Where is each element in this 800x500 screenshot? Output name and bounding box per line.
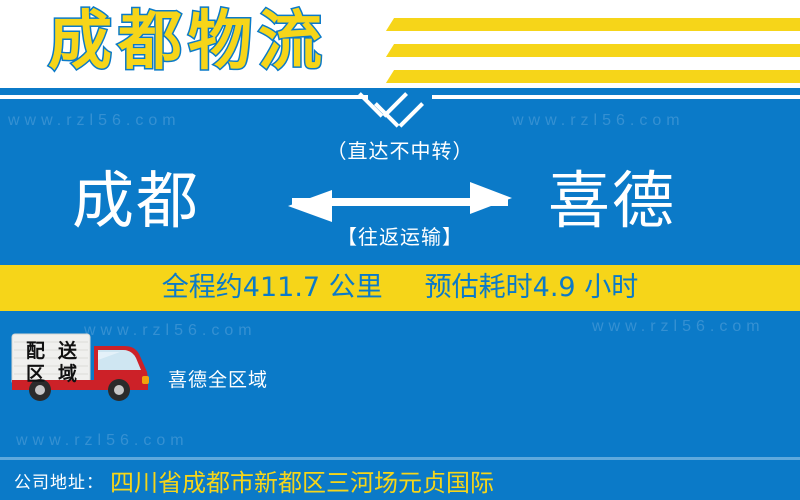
stripe-1 <box>386 18 800 31</box>
divider-rule-right <box>432 95 800 99</box>
coverage-area-label: 喜德全区域 <box>168 368 268 392</box>
svg-text:域: 域 <box>58 362 77 385</box>
chevron-down-icon-inner <box>374 105 424 131</box>
divider-rule-left <box>0 95 368 99</box>
footer-bar: 公司地址： 四川省成都市新都区三河场元贞国际 <box>0 460 800 500</box>
svg-text:送: 送 <box>58 339 78 362</box>
stripe-3 <box>386 70 800 83</box>
banner-header: 成都物流 <box>0 0 800 88</box>
delivery-truck-icon: 配 送 区 域 <box>8 330 153 402</box>
duration-stat: 预估耗时4.9 小时 <box>425 272 639 304</box>
header-stripes-decoration <box>400 0 800 88</box>
company-address: 四川省成都市新都区三河场元贞国际 <box>104 463 494 498</box>
double-arrow-icon <box>280 172 520 222</box>
address-label: 公司地址： <box>0 468 104 493</box>
svg-text:配: 配 <box>26 340 45 362</box>
origin-city: 成都 <box>72 165 200 237</box>
logistics-banner: 成都物流 www.rzl56.com www.rzl56.com www.rzl… <box>0 0 800 500</box>
roundtrip-label: 【往返运输】 <box>280 224 520 250</box>
route-indicator: （直达不中转） 【往返运输】 <box>280 138 520 250</box>
distance-stat: 全程约411.7 公里 <box>162 272 383 304</box>
stats-band: 全程约411.7 公里 预估耗时4.9 小时 <box>0 265 800 311</box>
direct-shipping-label: （直达不中转） <box>280 138 520 164</box>
destination-city: 喜德 <box>548 165 676 237</box>
stripe-2 <box>386 44 800 57</box>
svg-text:区: 区 <box>26 363 45 385</box>
divider-rule <box>0 95 800 131</box>
brand-title: 成都物流 <box>48 6 328 78</box>
